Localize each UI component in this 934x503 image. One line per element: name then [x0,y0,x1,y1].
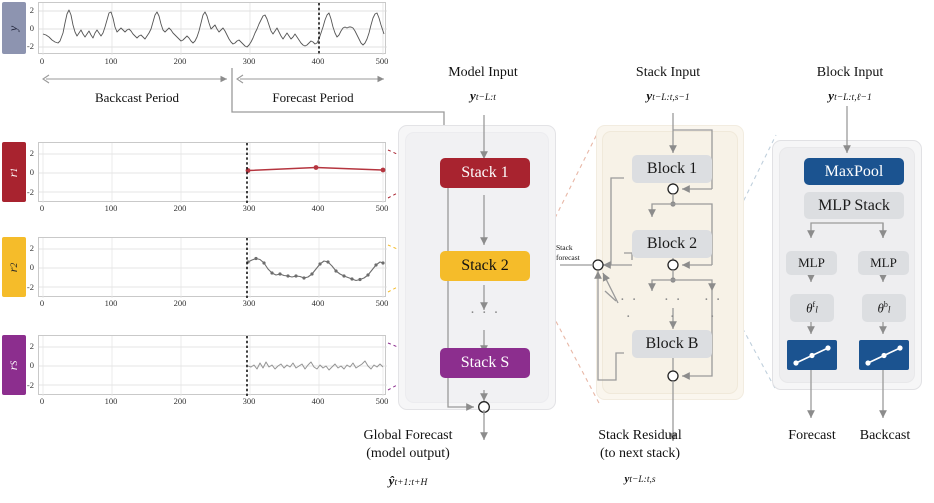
top-plot-axes [38,2,386,54]
basis-forecast-icon [787,340,837,370]
residual-plot-2: r2 2 0 -2 0 100 200 300 4 [0,235,390,307]
residual-1-xtick-0: 0 [40,203,44,213]
stack-residual-math-sub: t−L:t,s [629,475,655,485]
residual-1-xtick-200: 200 [174,203,187,213]
stack-panel-ellipsis-left: · · · [616,292,642,326]
residual-2-xtick-100: 100 [105,298,118,308]
top-plot-ytick-neg2: -2 [14,41,34,51]
residual-s-xtick-200: 200 [174,396,187,406]
block-b-node[interactable]: Block B [632,330,712,358]
stack-input-math: yt−L:t,s−1 [598,88,738,104]
residual-2-xtick-500: 500 [376,298,389,308]
block-forecast-output-label: Forecast [772,427,852,445]
basis-backcast-icon [859,340,909,370]
residual-2-ytick-2: 2 [18,243,34,253]
basis-forecast-node[interactable] [787,340,837,370]
theta-backcast-symbol: θbl [877,300,890,316]
model-input-math-sub: t−L:t [476,93,496,103]
mlp-right-node[interactable]: MLP [858,251,909,275]
stack-s-node[interactable]: Stack S [440,348,530,378]
stack-forecast-label: Stack forecast [556,243,598,263]
residual-1-svg [39,143,387,203]
residual-plot-s: rS 2 0 -2 0 100 200 300 400 500 [0,333,390,405]
residual-s-svg [39,336,387,396]
residual-2-ytick-neg2: -2 [14,282,34,292]
model-panel-ellipsis: · · · [470,305,500,322]
residual-2-xtick-200: 200 [174,298,187,308]
stack-residual-caption-line2: (to next stack) [570,445,710,463]
model-input-math: yt−L:t [418,88,548,104]
residual-s-xtick-100: 100 [105,396,118,406]
mlp-left-node[interactable]: MLP [786,251,837,275]
top-plot-ytick-0: 0 [18,23,34,33]
model-input-connector [0,54,460,144]
residual-s-ytick-neg2: -2 [14,380,34,390]
stack-panel-wiring [560,105,760,425]
residual-1-axes [38,142,386,202]
stack-residual-caption-line1: Stack Residual [570,427,710,445]
block-input-caption: Block Input [780,64,920,82]
block-backcast-output-label: Backcast [844,427,926,445]
residual-2-svg [39,238,387,298]
residual-2-xtick-0: 0 [40,298,44,308]
stack-forecast-label-line2: forecast [556,253,598,263]
residual-s-xtick-400: 400 [312,396,325,406]
stack-panel-ellipsis-right: · · · [700,292,726,326]
residual-1-xtick-300: 300 [243,203,256,213]
residual-s-xtick-500: 500 [376,396,389,406]
model-input-caption: Model Input [418,64,548,82]
global-forecast-caption-line2: (model output) [338,445,478,463]
stack-forecast-label-line1: Stack [556,243,598,253]
theta-forecast-symbol: θfl [806,300,818,316]
stack-panel-ellipsis-mid: · · · [660,292,686,326]
block-2-node[interactable]: Block 2 [632,230,712,258]
stack-2-node[interactable]: Stack 2 [440,251,530,281]
top-plot-ytick-2: 2 [18,5,34,15]
residual-s-ytick-0: 0 [18,360,34,370]
residual-s-axes [38,335,386,395]
residual-s-ytick-2: 2 [18,341,34,351]
stack-1-node[interactable]: Stack 1 [440,158,530,188]
top-plot-svg [39,3,387,55]
global-forecast-math-sub: t+1:t+H [394,478,427,488]
residual-1-xtick-400: 400 [312,203,325,213]
mlp-stack-node[interactable]: MLP Stack [804,192,904,219]
residual-1-xtick-500: 500 [376,203,389,213]
residual-2-ytick-0: 0 [18,262,34,272]
residual-2-xtick-400: 400 [312,298,325,308]
stack-input-math-sub: t−L:t,s−1 [652,93,689,103]
residual-2-xtick-300: 300 [243,298,256,308]
residual-s-xtick-0: 0 [40,396,44,406]
stack-residual-math: yt−L:t,s [570,473,710,485]
global-forecast-caption-line1: Global Forecast [338,427,478,445]
theta-backcast-node[interactable]: θbl [862,294,906,322]
residual-1-ytick-2: 2 [18,148,34,158]
global-forecast-math: ŷt+1:t+H [338,473,478,489]
maxpool-node[interactable]: MaxPool [804,158,904,185]
residual-plot-1: r1 2 0 -2 0 100 200 300 400 500 [0,140,390,212]
block-1-node[interactable]: Block 1 [632,155,712,183]
stack-input-caption: Stack Input [598,64,738,82]
residual-s-xtick-300: 300 [243,396,256,406]
residual-1-ytick-0: 0 [18,167,34,177]
basis-backcast-node[interactable] [859,340,909,370]
residual-1-ytick-neg2: -2 [14,187,34,197]
residual-2-axes [38,237,386,297]
residual-1-xtick-100: 100 [105,203,118,213]
theta-forecast-node[interactable]: θfl [790,294,834,322]
